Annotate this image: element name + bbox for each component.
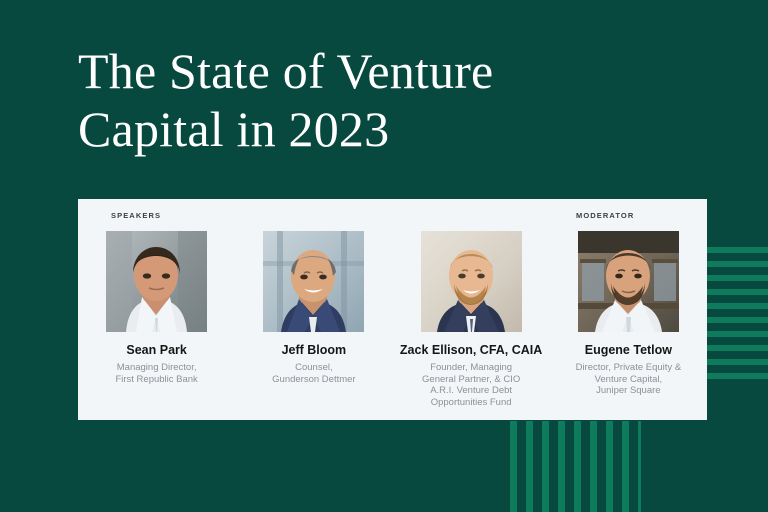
- vertical-stripe-pattern: [510, 421, 641, 512]
- person-role: Founder, Managing General Partner, & CIO…: [422, 362, 520, 408]
- horizontal-stripe-pattern: [707, 247, 768, 380]
- person-role: Managing Director, First Republic Bank: [115, 362, 197, 385]
- person-name: Eugene Tetlow: [585, 343, 672, 357]
- title-line-2: Capital in 2023: [78, 100, 638, 158]
- headshot-sean-park: [106, 231, 207, 332]
- person-name: Jeff Bloom: [282, 343, 347, 357]
- headshot-eugene-tetlow: [578, 231, 679, 332]
- slide-canvas: The State of Venture Capital in 2023 SPE…: [0, 0, 768, 512]
- title-line-1: The State of Venture: [78, 42, 638, 100]
- person-sean-park: Sean Park Managing Director, First Repub…: [78, 231, 235, 408]
- speaker-card: SPEAKERS MODERATOR: [78, 199, 707, 420]
- headshot-zack-ellison: [421, 231, 522, 332]
- speakers-label: SPEAKERS: [111, 211, 161, 220]
- page-title: The State of Venture Capital in 2023: [78, 42, 638, 158]
- person-jeff-bloom: Jeff Bloom Counsel, Gunderson Dettmer: [235, 231, 392, 408]
- person-role: Counsel, Gunderson Dettmer: [272, 362, 355, 385]
- people-row: Sean Park Managing Director, First Repub…: [78, 231, 707, 408]
- person-name: Sean Park: [126, 343, 186, 357]
- person-zack-ellison: Zack Ellison, CFA, CAIA Founder, Managin…: [393, 231, 550, 408]
- person-role: Director, Private Equity & Venture Capit…: [576, 362, 682, 397]
- person-eugene-tetlow: Eugene Tetlow Director, Private Equity &…: [550, 231, 707, 408]
- person-name: Zack Ellison, CFA, CAIA: [400, 343, 542, 357]
- headshot-jeff-bloom: [263, 231, 364, 332]
- moderator-label: MODERATOR: [576, 211, 634, 220]
